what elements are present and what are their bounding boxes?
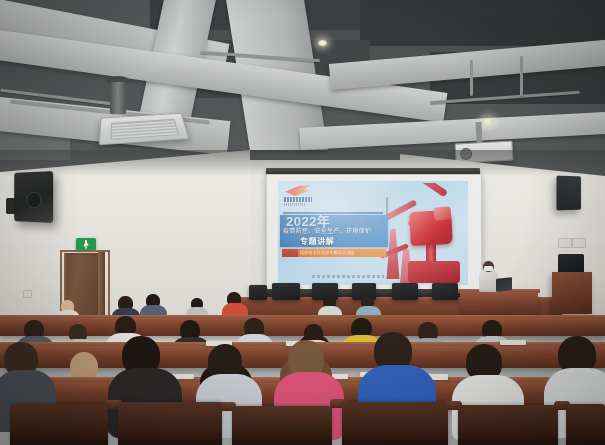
chair-back [10, 404, 108, 445]
hvac-duct [520, 56, 523, 96]
chair-back [566, 404, 605, 445]
ac-mount-stem [110, 82, 126, 114]
chair-back [458, 405, 558, 445]
ceiling-void [360, 0, 605, 46]
desk-monitor [272, 283, 300, 300]
lecture-hall-photo: 2022年 疫情防控、安全生产、环境保护 专题讲解 组织安全环保部专题培训讲座 [0, 0, 605, 445]
chair-back [232, 406, 332, 445]
speaker-cone-icon [27, 192, 42, 208]
crane-base [408, 261, 460, 283]
swoosh-logo-icon [285, 185, 311, 196]
running-person-icon [84, 240, 89, 249]
chair-back [118, 402, 222, 445]
hvac-duct [470, 60, 473, 96]
chair-back [342, 402, 448, 445]
wall-outlet [572, 238, 586, 248]
face-mask-icon [484, 266, 493, 271]
banner-badge [282, 249, 298, 257]
slide-main-title: 专题讲解 [300, 237, 334, 246]
presenter-desk [460, 292, 538, 316]
slide-logo [284, 185, 314, 207]
podium-lectern [552, 272, 592, 314]
crane-artwork [374, 183, 468, 285]
slide-year: 2022年 [286, 215, 330, 229]
wall-speaker-right [557, 176, 581, 211]
ceiling-light [482, 118, 494, 125]
desk-monitor [392, 283, 418, 300]
slide-footer-text [312, 275, 384, 278]
wall-outlet [23, 290, 32, 298]
banner-text: 组织安全环保部专题培训讲座 [300, 250, 355, 256]
handout-paper [500, 340, 526, 345]
desk-monitor [249, 285, 267, 300]
logo-subtext [284, 203, 306, 206]
logo-wordmark [284, 197, 312, 202]
crane-cab [433, 206, 451, 220]
slide-banner: 组织安全环保部专题培训讲座 [282, 249, 386, 257]
crane-boom [401, 183, 448, 197]
projector-mount-pole [475, 122, 482, 144]
presentation-slide: 2022年 疫情防控、安全生产、环境保护 专题讲解 组织安全环保部专题培训讲座 [278, 181, 468, 285]
desk-row [0, 318, 605, 336]
ac-grill-icon [111, 119, 179, 140]
ceiling-light [318, 40, 327, 46]
presenter-laptop [496, 277, 512, 292]
wall-outlet [558, 238, 572, 248]
slide-subtitle: 疫情防控、安全生产、环境保护 [283, 229, 371, 236]
wall-speaker-left [14, 171, 53, 223]
desk-monitor [432, 283, 458, 300]
